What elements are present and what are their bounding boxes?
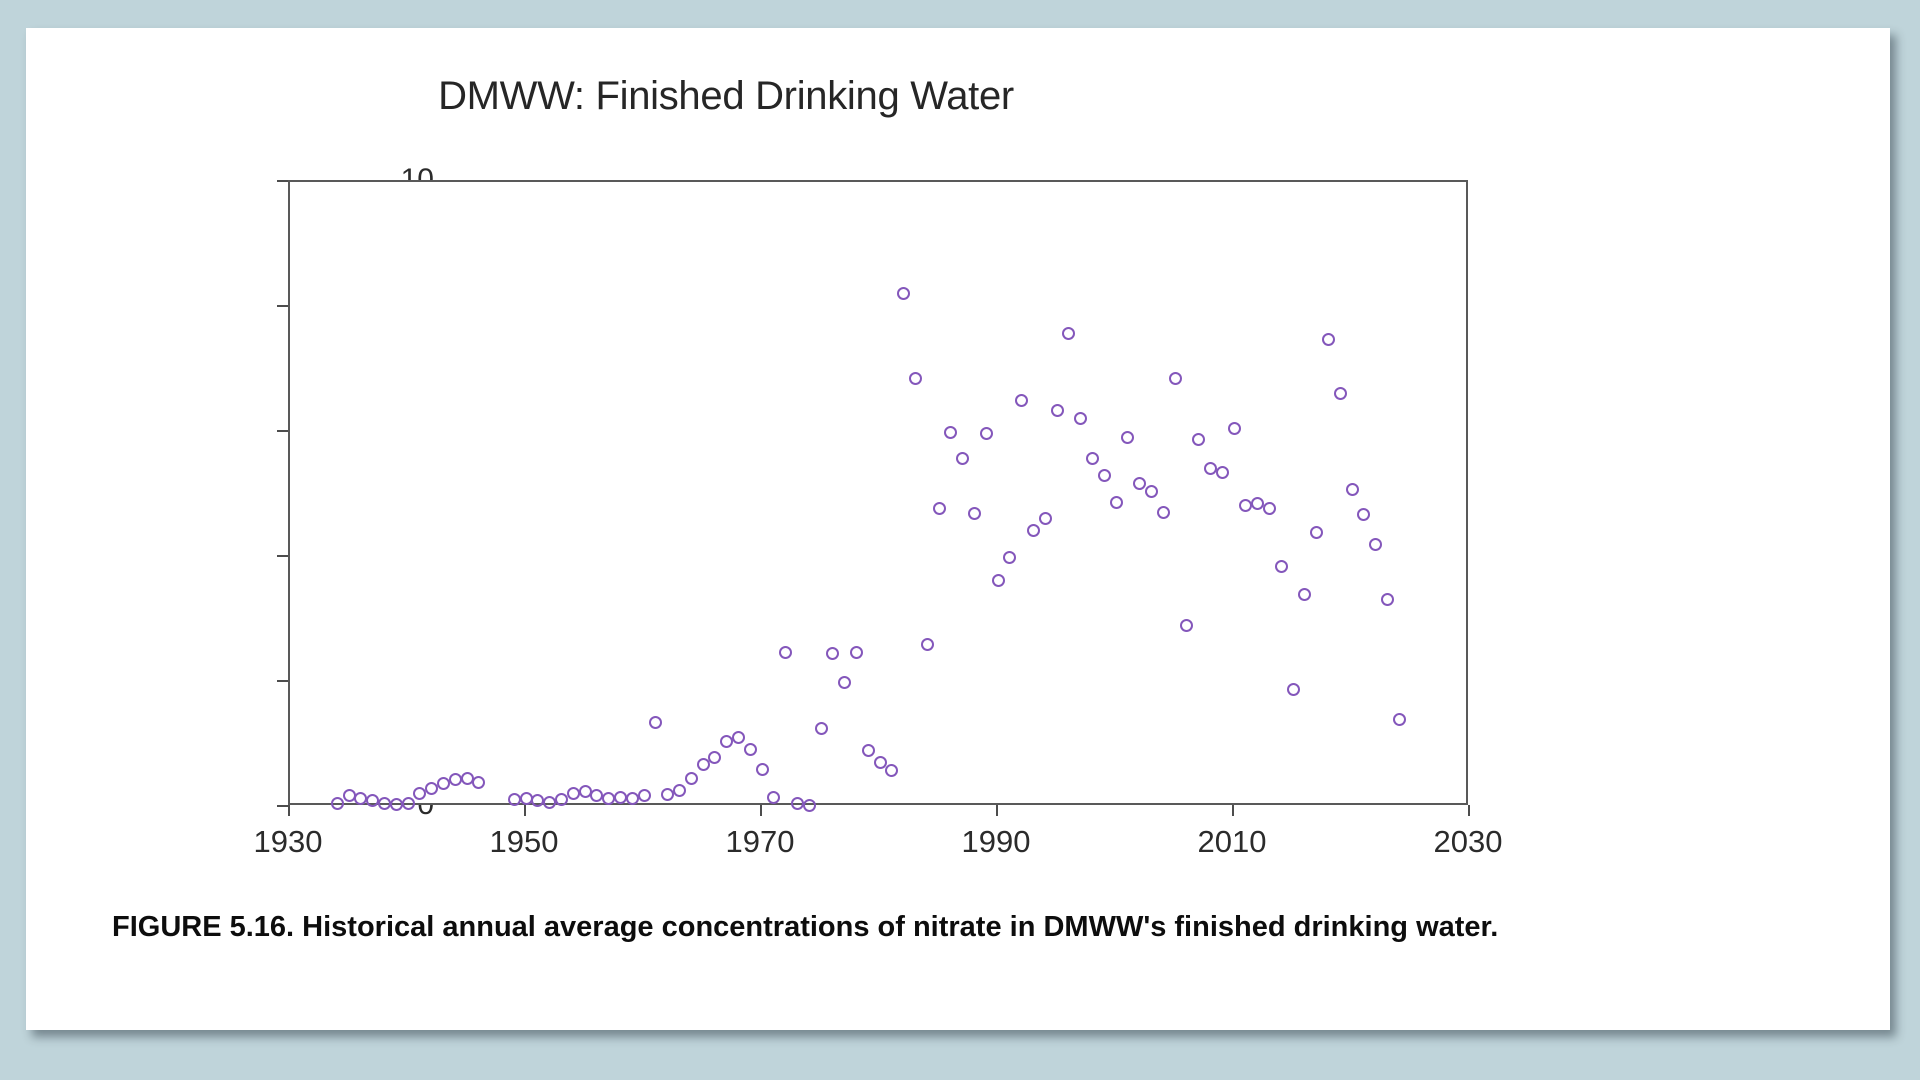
scatter-point xyxy=(1346,483,1359,496)
scatter-point xyxy=(1098,469,1111,482)
scatter-point xyxy=(567,787,580,800)
x-tick-mark xyxy=(996,805,998,816)
figure-caption: FIGURE 5.16. Historical annual average c… xyxy=(112,908,1792,947)
scatter-point xyxy=(1263,502,1276,515)
scatter-point xyxy=(708,751,721,764)
scatter-point xyxy=(1062,327,1075,340)
scatter-point xyxy=(968,507,981,520)
chart-title: DMWW: Finished Drinking Water xyxy=(26,74,1426,119)
scatter-point xyxy=(826,647,839,660)
scatter-point xyxy=(1039,512,1052,525)
scatter-point xyxy=(1133,477,1146,490)
scatter-point xyxy=(732,731,745,744)
y-tick-mark xyxy=(277,555,288,557)
scatter-point xyxy=(1121,431,1134,444)
scatter-point xyxy=(508,793,521,806)
scatter-point xyxy=(1275,560,1288,573)
plot-area xyxy=(288,180,1468,805)
x-tick-label: 2010 xyxy=(1162,824,1302,860)
scatter-point xyxy=(378,797,391,810)
scatter-point xyxy=(933,502,946,515)
scatter-point xyxy=(992,574,1005,587)
x-tick-mark xyxy=(524,805,526,816)
scatter-point xyxy=(874,756,887,769)
scatter-point xyxy=(1228,422,1241,435)
scatter-point xyxy=(1110,496,1123,509)
scatter-point xyxy=(885,764,898,777)
scatter-point xyxy=(850,646,863,659)
scatter-point xyxy=(1169,372,1182,385)
scatter-point xyxy=(614,791,627,804)
scatter-point xyxy=(1074,412,1087,425)
scatter-point xyxy=(1027,524,1040,537)
scatter-point xyxy=(815,722,828,735)
scatter-point xyxy=(1157,506,1170,519)
scatter-point xyxy=(673,784,686,797)
scatter-point xyxy=(1204,462,1217,475)
scatter-points-layer xyxy=(290,182,1466,803)
scatter-point xyxy=(909,372,922,385)
scatter-point xyxy=(980,427,993,440)
scatter-point xyxy=(1216,466,1229,479)
scatter-point xyxy=(1015,394,1028,407)
scatter-point xyxy=(1393,713,1406,726)
scatter-point xyxy=(1357,508,1370,521)
scatter-point xyxy=(744,743,757,756)
scatter-point xyxy=(1145,485,1158,498)
scatter-point xyxy=(921,638,934,651)
scatter-point xyxy=(402,797,415,810)
scatter-point xyxy=(956,452,969,465)
scatter-point xyxy=(331,797,344,810)
x-tick-mark xyxy=(1468,805,1470,816)
scatter-point xyxy=(897,287,910,300)
x-tick-label: 1930 xyxy=(218,824,358,860)
scatter-point xyxy=(1051,404,1064,417)
scatter-point xyxy=(1334,387,1347,400)
scatter-point xyxy=(638,789,651,802)
scatter-point xyxy=(1381,593,1394,606)
x-tick-label: 1970 xyxy=(690,824,830,860)
y-tick-mark xyxy=(277,430,288,432)
scatter-point xyxy=(390,798,403,811)
y-tick-mark xyxy=(277,805,288,807)
scatter-point xyxy=(1086,452,1099,465)
x-tick-mark xyxy=(1232,805,1234,816)
x-tick-label: 1990 xyxy=(926,824,1066,860)
scatter-point xyxy=(626,792,639,805)
scatter-point xyxy=(1003,551,1016,564)
scatter-point xyxy=(472,776,485,789)
scatter-point xyxy=(1298,588,1311,601)
chart-block: DMWW: Finished Drinking Water Average An… xyxy=(26,28,1890,868)
scatter-point xyxy=(1180,619,1193,632)
scatter-point xyxy=(862,744,875,757)
scatter-point xyxy=(685,772,698,785)
scatter-point xyxy=(803,799,816,812)
scatter-point xyxy=(1287,683,1300,696)
scatter-point xyxy=(1322,333,1335,346)
scatter-point xyxy=(449,773,462,786)
y-tick-mark xyxy=(277,305,288,307)
x-tick-label: 2030 xyxy=(1398,824,1538,860)
scatter-point xyxy=(791,797,804,810)
scatter-point xyxy=(1192,433,1205,446)
x-tick-label: 1950 xyxy=(454,824,594,860)
scatter-point xyxy=(1310,526,1323,539)
scatter-point xyxy=(649,716,662,729)
scatter-point xyxy=(437,777,450,790)
screenshot-root: DMWW: Finished Drinking Water Average An… xyxy=(0,0,1920,1080)
figure-card: DMWW: Finished Drinking Water Average An… xyxy=(26,28,1890,1030)
y-tick-mark xyxy=(277,680,288,682)
scatter-point xyxy=(944,426,957,439)
scatter-point xyxy=(756,763,769,776)
scatter-point xyxy=(838,676,851,689)
scatter-point xyxy=(555,793,568,806)
x-tick-mark xyxy=(760,805,762,816)
x-tick-mark xyxy=(288,805,290,816)
scatter-point xyxy=(1369,538,1382,551)
scatter-point xyxy=(779,646,792,659)
y-tick-mark xyxy=(277,180,288,182)
scatter-point xyxy=(767,791,780,804)
